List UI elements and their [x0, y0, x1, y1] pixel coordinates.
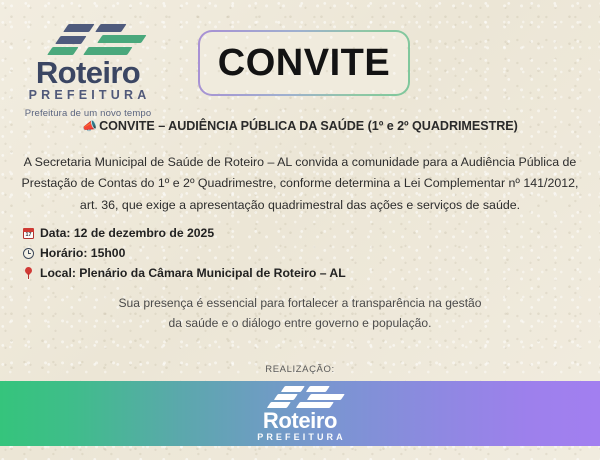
- clock-icon: [21, 248, 36, 259]
- detail-label-date: Data:: [40, 224, 70, 243]
- detail-label-location: Local:: [40, 264, 76, 283]
- poster-title: 📣CONVITE – AUDIÊNCIA PÚBLICA DA SAÚDE (1…: [0, 119, 600, 133]
- closing-line-2: da saúde e o diálogo entre governo e pop…: [0, 314, 600, 334]
- roteiro-logo-mark-icon: [28, 22, 148, 56]
- detail-value-time: 15h00: [91, 244, 126, 263]
- footer-logo-bar-4: [307, 394, 345, 400]
- footer-logo-bar-3: [274, 394, 298, 400]
- header-brand-logo: Roteiro PREFEITURA Prefeitura de um novo…: [8, 22, 168, 119]
- footer-brand-logo: Roteiro PREFEITURA Prefeitura de um novo…: [215, 385, 385, 446]
- detail-label-time: Horário:: [40, 244, 87, 263]
- logo-bar-navy-2: [95, 24, 126, 32]
- detail-row-date: 17 Data: 12 de dezembro de 2025: [21, 224, 346, 243]
- footer-logo-bar-2: [306, 386, 330, 392]
- detail-row-location: Local: Plenário da Câmara Municipal de R…: [21, 264, 346, 283]
- header-logo-subtitle: PREFEITURA: [8, 88, 168, 104]
- detail-value-date: 12 de dezembro de 2025: [74, 224, 214, 243]
- detail-value-location: Plenário da Câmara Municipal de Roteiro …: [79, 264, 345, 283]
- logo-bar-navy-3: [55, 36, 86, 44]
- map-pin-icon: [21, 267, 36, 280]
- convite-badge-label: CONVITE: [218, 44, 390, 82]
- realizacao-label: REALIZAÇÃO:: [0, 364, 600, 375]
- footer-logo-bar-6: [296, 402, 334, 408]
- header-logo-name: Roteiro: [8, 57, 168, 88]
- convite-poster: Roteiro PREFEITURA Prefeitura de um novo…: [0, 0, 600, 460]
- closing-line-1: Sua presença é essencial para fortalecer…: [0, 294, 600, 314]
- calendar-icon-day: 17: [24, 232, 33, 238]
- footer-logo-bar-1: [281, 386, 305, 392]
- footer-logo-name: Roteiro: [215, 410, 385, 432]
- event-details-list: 17 Data: 12 de dezembro de 2025 Horário:…: [21, 224, 346, 284]
- footer-logo-subtitle: PREFEITURA: [215, 432, 385, 443]
- logo-bar-green-2: [47, 47, 78, 55]
- poster-paragraph: A Secretaria Municipal de Saúde de Rotei…: [16, 152, 584, 216]
- logo-bar-green-1: [97, 35, 146, 43]
- poster-closing-message: Sua presença é essencial para fortalecer…: [0, 294, 600, 333]
- footer-logo-bar-5: [267, 402, 291, 408]
- convite-badge-inner: CONVITE: [200, 32, 408, 94]
- roteiro-logo-mark-footer-icon: [245, 385, 355, 409]
- poster-header: Roteiro PREFEITURA Prefeitura de um novo…: [0, 0, 600, 112]
- calendar-icon: 17: [21, 228, 36, 239]
- header-logo-tagline: Prefeitura de um novo tempo: [8, 108, 168, 119]
- detail-row-time: Horário: 15h00: [21, 244, 346, 263]
- logo-bar-navy-1: [63, 24, 94, 32]
- convite-badge: CONVITE: [198, 30, 410, 96]
- logo-bar-green-3: [83, 47, 132, 55]
- poster-title-text: CONVITE – AUDIÊNCIA PÚBLICA DA SAÚDE (1º…: [99, 119, 518, 133]
- poster-footer: Roteiro PREFEITURA Prefeitura de um novo…: [0, 381, 600, 446]
- megaphone-icon: 📣: [82, 119, 97, 133]
